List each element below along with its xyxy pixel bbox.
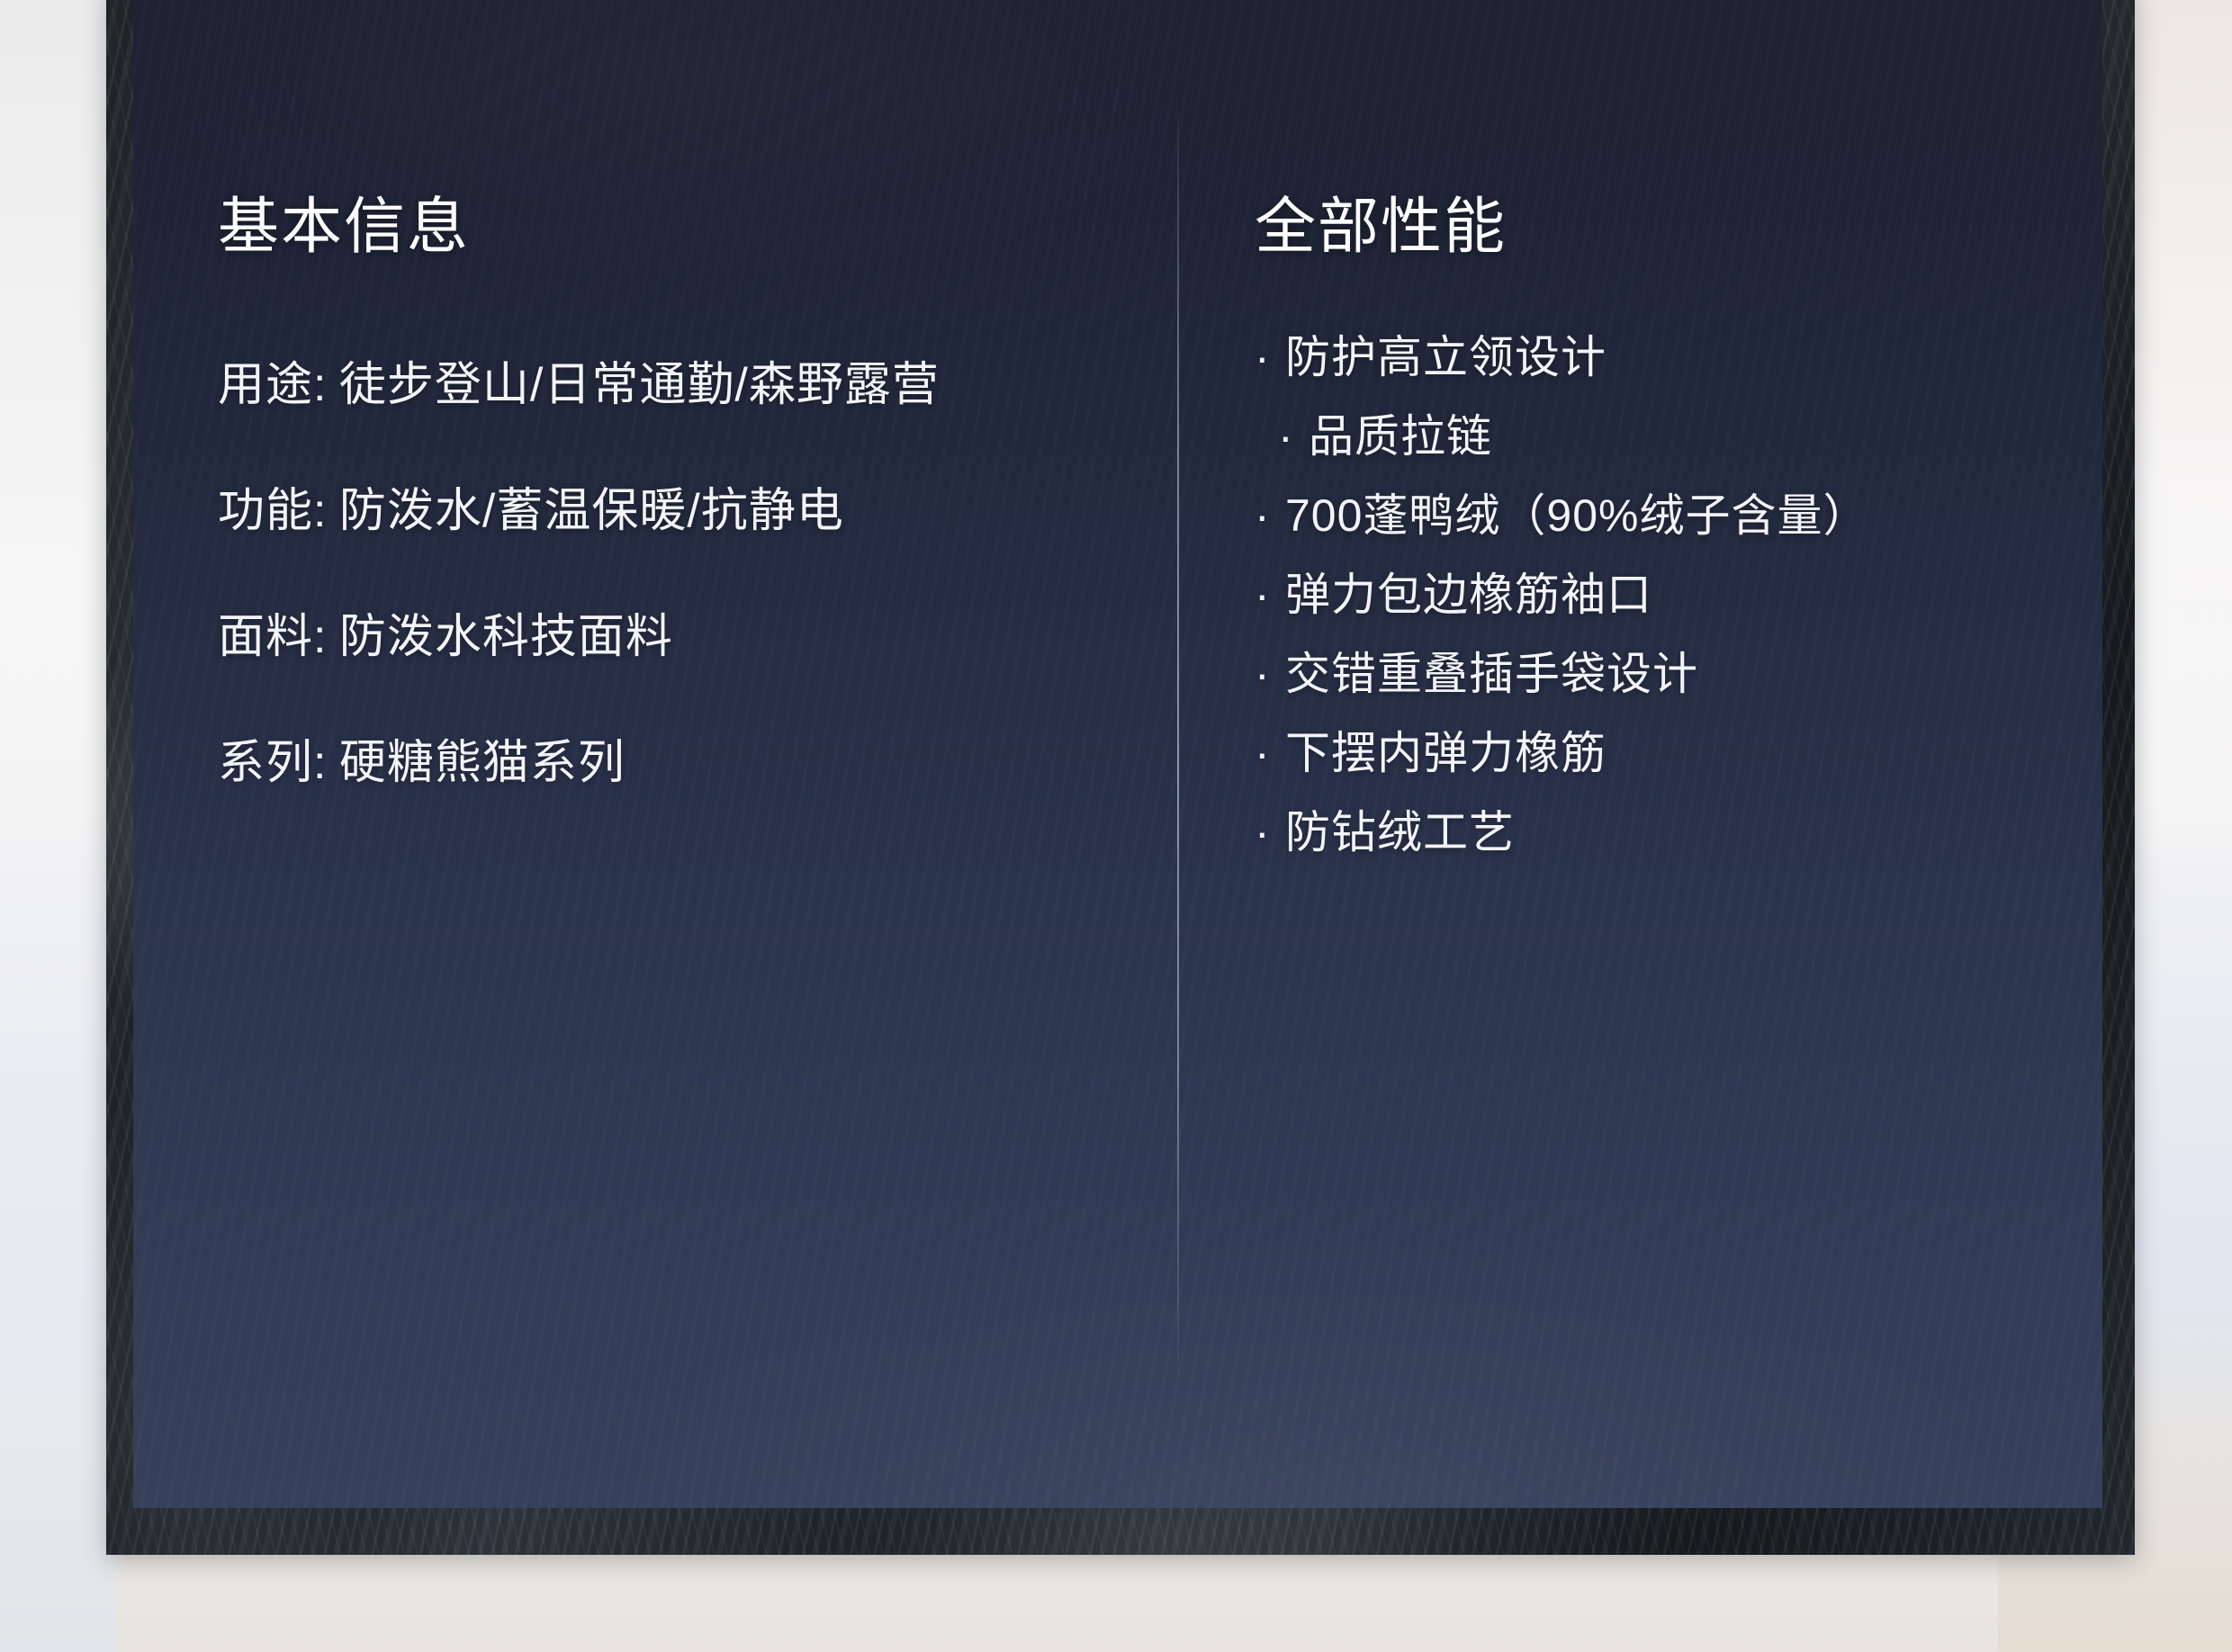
spec-key: 面料 [218, 611, 313, 663]
basic-info-column: 基本信息 用途: 徒步登山/日常通勤/森野露营 功能: 防泼水/蓄温保暖/抗静电… [133, 0, 1177, 1508]
spec-list: 用途: 徒步登山/日常通勤/森野露营 功能: 防泼水/蓄温保暖/抗静电 面料: … [218, 362, 1177, 786]
feature-label: 700蓬鸭绒（90%绒子含量） [1285, 493, 1869, 538]
spec-row: 面料: 防泼水科技面料 [218, 614, 1177, 660]
spec-value: 防泼水/蓄温保暖/抗静电 [339, 485, 844, 537]
spec-separator: : [313, 611, 339, 663]
bullet-icon: · [1255, 731, 1285, 776]
feature-label: 防钻绒工艺 [1285, 810, 1515, 855]
spec-separator: : [313, 485, 339, 537]
spec-key: 用途 [218, 359, 313, 411]
feature-item: · 品质拉链 [1255, 414, 2102, 459]
all-features-column: 全部性能 · 防护高立领设计 · 品质拉链 · 700蓬鸭绒（90%绒子含量） [1177, 0, 2102, 1508]
panel-columns: 基本信息 用途: 徒步登山/日常通勤/森野露营 功能: 防泼水/蓄温保暖/抗静电… [133, 0, 2102, 1508]
feature-item: · 700蓬鸭绒（90%绒子含量） [1255, 493, 2102, 538]
spec-row: 系列: 硬糖熊猫系列 [218, 740, 1177, 786]
feature-label: 下摆内弹力橡筋 [1285, 731, 1606, 776]
spec-separator: : [313, 737, 339, 789]
bullet-icon: · [1255, 572, 1285, 617]
spec-row: 用途: 徒步登山/日常通勤/森野露营 [218, 362, 1177, 409]
feature-label: 弹力包边橡筋袖口 [1285, 572, 1652, 617]
spec-row: 功能: 防泼水/蓄温保暖/抗静电 [218, 488, 1177, 534]
feature-label: 交错重叠插手袋设计 [1285, 651, 1698, 696]
feature-item: · 防护高立领设计 [1255, 335, 2102, 380]
slide-background: 基本信息 用途: 徒步登山/日常通勤/森野露营 功能: 防泼水/蓄温保暖/抗静电… [0, 0, 2232, 1652]
spec-key: 系列 [218, 737, 313, 789]
feature-item: · 下摆内弹力橡筋 [1255, 731, 2102, 776]
bullet-icon: · [1255, 335, 1285, 380]
feature-item: · 交错重叠插手袋设计 [1255, 651, 2102, 696]
feature-item: · 弹力包边橡筋袖口 [1255, 572, 2102, 617]
feature-list: · 防护高立领设计 · 品质拉链 · 700蓬鸭绒（90%绒子含量） · 弹力包… [1255, 335, 2102, 855]
spec-key: 功能 [218, 485, 313, 537]
all-features-heading: 全部性能 [1255, 196, 2102, 257]
spec-value: 徒步登山/日常通勤/森野露营 [339, 359, 940, 411]
spec-separator: : [313, 359, 339, 411]
spec-value: 硬糖熊猫系列 [339, 737, 625, 789]
spec-value: 防泼水科技面料 [339, 611, 673, 663]
column-divider [1177, 103, 1179, 1380]
bullet-icon: · [1278, 414, 1309, 459]
feature-item: · 防钻绒工艺 [1255, 810, 2102, 855]
feature-label: 品质拉链 [1309, 414, 1492, 459]
bullet-icon: · [1255, 810, 1285, 855]
basic-info-heading: 基本信息 [218, 196, 1177, 257]
bullet-icon: · [1255, 651, 1285, 696]
bullet-icon: · [1255, 493, 1285, 538]
background-left-wash [0, 0, 117, 1652]
product-info-panel: 基本信息 用途: 徒步登山/日常通勤/森野露营 功能: 防泼水/蓄温保暖/抗静电… [133, 0, 2102, 1508]
feature-label: 防护高立领设计 [1285, 335, 1606, 380]
